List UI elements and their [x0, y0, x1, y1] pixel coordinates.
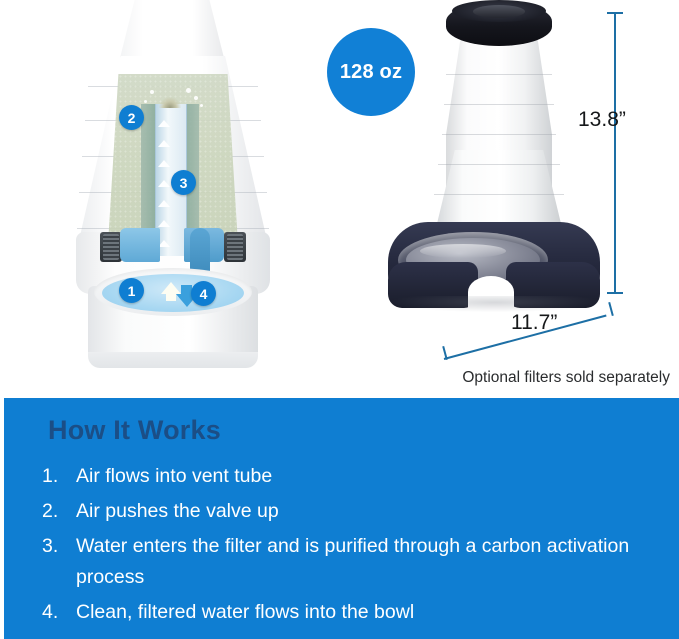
callout-badge-4[interactable]: 4 — [191, 281, 216, 306]
clip-left — [100, 232, 122, 262]
dispenser-neck — [120, 0, 224, 58]
vent-flow-arrow-icon — [158, 120, 170, 127]
product-cap-handle — [473, 5, 525, 18]
infographic-root: 2 3 1 4 128 oz — [0, 0, 679, 639]
callout-badge-1[interactable]: 1 — [119, 278, 144, 303]
cutaway-diagram: 2 3 1 4 — [58, 0, 290, 380]
step-item: 2. Air pushes the valve up — [42, 496, 642, 527]
bubble-icon — [186, 88, 191, 93]
dispenser-base-bottom — [88, 352, 258, 368]
valve-outlet — [190, 228, 210, 274]
step-item: 3. Water enters the filter and is purifi… — [42, 531, 642, 593]
bubble-icon — [200, 104, 203, 107]
height-dim-label: 13.8” — [578, 108, 626, 132]
vent-flow-arrow-icon — [158, 200, 170, 207]
vent-flow-arrow-icon — [158, 180, 170, 187]
callout-badge-2[interactable]: 2 — [119, 105, 144, 130]
callout-badge-3[interactable]: 3 — [171, 170, 196, 195]
valve-left — [120, 228, 160, 262]
water-spray — [159, 96, 181, 108]
product-photo — [370, 0, 620, 330]
vent-flow-arrow-icon — [158, 140, 170, 147]
step-text: Water enters the filter and is purified … — [76, 535, 629, 588]
bottle-rib — [438, 164, 560, 165]
bottle-rib — [442, 134, 556, 135]
steps-list: 1. Air flows into vent tube 2. Air pushe… — [42, 461, 642, 632]
top-image-area: 2 3 1 4 128 oz — [0, 0, 679, 398]
step-number: 3. — [42, 531, 68, 562]
clip-ridge — [227, 234, 243, 260]
air-intake-arrow-icon — [161, 282, 181, 294]
panel-title: How It Works — [48, 415, 221, 446]
bubble-icon — [150, 90, 154, 94]
bubble-icon — [194, 96, 198, 100]
step-item: 4. Clean, filtered water flows into the … — [42, 597, 642, 628]
width-dim-label: 11.7” — [511, 311, 557, 335]
height-dim-line — [614, 12, 616, 294]
bottle-rib — [444, 104, 554, 105]
step-text: Air flows into vent tube — [76, 465, 272, 487]
step-number: 4. — [42, 597, 68, 628]
bubble-icon — [144, 100, 147, 103]
vent-flow-arrow-icon — [158, 220, 170, 227]
height-dim-cap-bottom — [607, 292, 623, 294]
how-it-works-panel: How It Works 1. Air flows into vent tube… — [4, 398, 679, 639]
step-text: Clean, filtered water flows into the bow… — [76, 601, 414, 623]
step-number: 2. — [42, 496, 68, 527]
clip-right — [224, 232, 246, 262]
step-item: 1. Air flows into vent tube — [42, 461, 642, 492]
step-text: Air pushes the valve up — [76, 500, 279, 522]
product-bowl-highlight — [420, 244, 506, 258]
bottle-rib — [434, 194, 564, 195]
clip-ridge — [103, 234, 119, 260]
bottle-rib — [446, 74, 552, 75]
step-number: 1. — [42, 461, 68, 492]
product-shadow — [390, 296, 600, 312]
filters-caption: Optional filters sold separately — [380, 369, 670, 387]
vent-flow-arrow-icon — [158, 160, 170, 167]
